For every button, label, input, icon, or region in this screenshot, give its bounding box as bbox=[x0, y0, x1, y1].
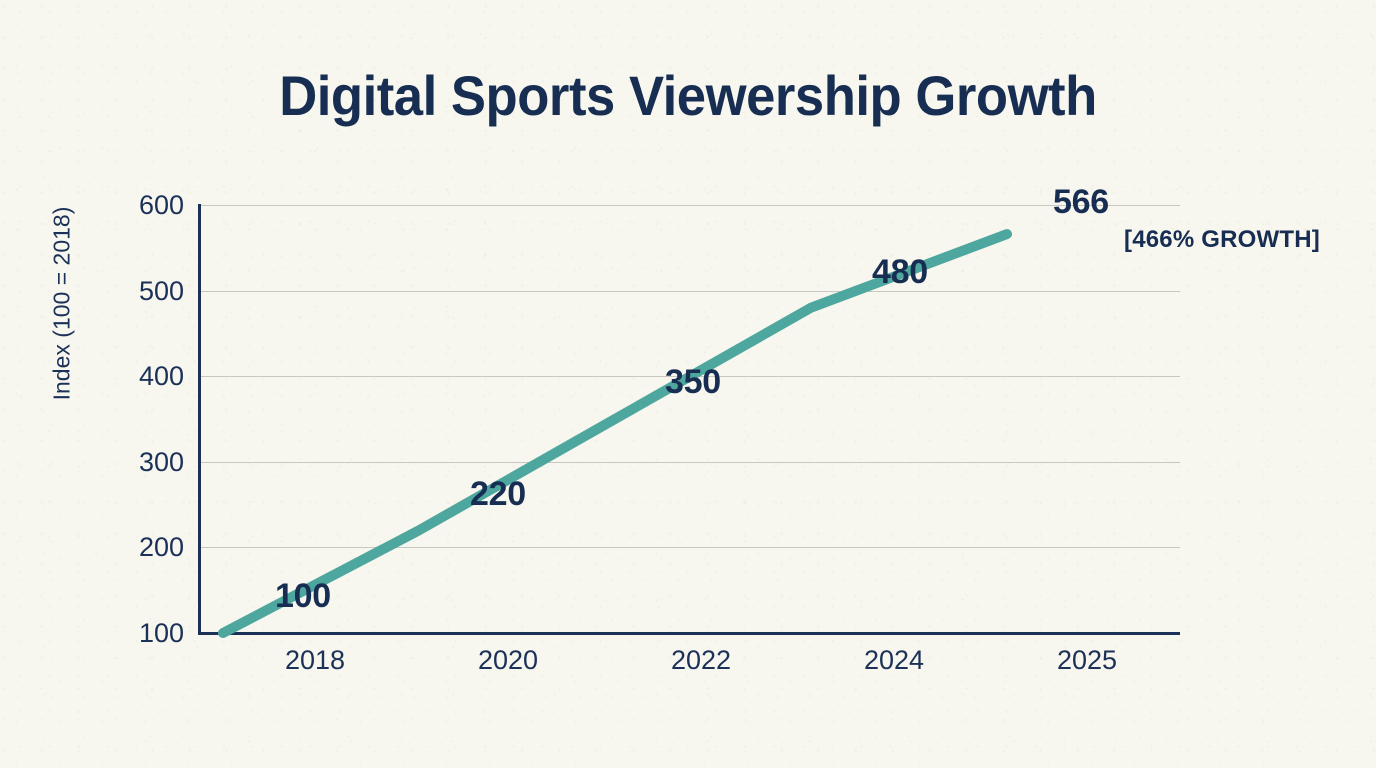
point-label-2025: 566 bbox=[1053, 183, 1109, 222]
chart-figure: Digital Sports Viewership Growth 600 500… bbox=[0, 0, 1376, 768]
point-label-2020: 220 bbox=[470, 475, 526, 514]
point-label-2018: 100 bbox=[275, 577, 331, 616]
growth-annotation: [466% GROWTH] bbox=[1124, 226, 1320, 254]
point-label-2022: 350 bbox=[665, 363, 721, 402]
point-label-2024: 480 bbox=[872, 253, 928, 292]
series-line-digital-viewership bbox=[223, 234, 1007, 633]
